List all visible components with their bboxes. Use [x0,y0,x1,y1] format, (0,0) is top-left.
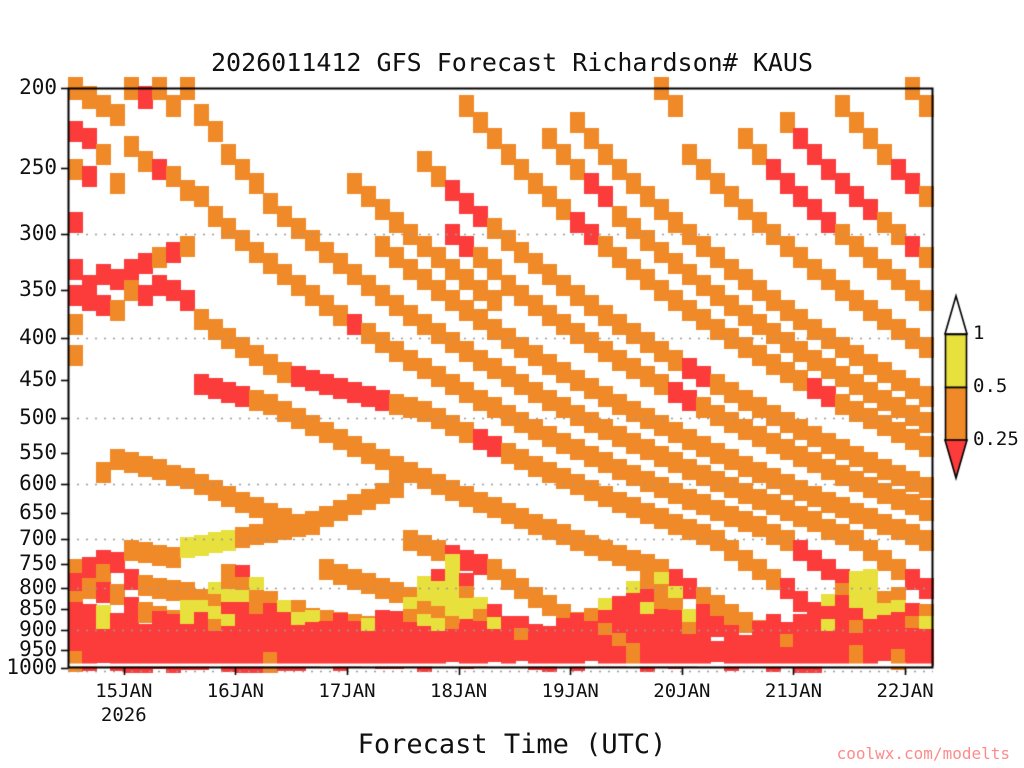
x-axis-year-label: 2026 [64,704,184,726]
chart-title: 2026011412 GFS Forecast Richardson# KAUS [0,48,1024,77]
forecast-heatmap-canvas [0,0,1024,768]
y-tick-label-1000: 1000 [6,655,57,679]
y-tick-label-300: 300 [19,221,57,245]
y-tick-label-700: 700 [19,526,57,550]
x-tick-label-20JAN: 20JAN [622,680,742,702]
y-tick-label-600: 600 [19,471,57,495]
y-tick-label-200: 200 [19,75,57,99]
chart-root: 2026011412 GFS Forecast Richardson# KAUS… [0,0,1024,768]
y-tick-label-400: 400 [19,325,57,349]
watermark: coolwx.com/modelts [837,744,1010,763]
colorbar-label-1: 1 [973,322,984,344]
x-tick-label-22JAN: 22JAN [845,680,965,702]
y-tick-label-650: 650 [19,500,57,524]
x-tick-label-21JAN: 21JAN [733,680,853,702]
x-tick-label-19JAN: 19JAN [510,680,630,702]
y-tick-label-250: 250 [19,155,57,179]
colorbar-label-0-25: 0.25 [973,428,1019,450]
y-tick-label-450: 450 [19,367,57,391]
x-tick-label-18JAN: 18JAN [399,680,519,702]
y-tick-label-750: 750 [19,551,57,575]
y-tick-label-350: 350 [19,277,57,301]
y-tick-label-500: 500 [19,405,57,429]
colorbar-label-0-5: 0.5 [973,375,1007,397]
y-tick-label-800: 800 [19,575,57,599]
x-tick-label-17JAN: 17JAN [287,680,407,702]
x-tick-label-15JAN: 15JAN [64,680,184,702]
x-tick-label-16JAN: 16JAN [175,680,295,702]
y-tick-label-550: 550 [19,440,57,464]
